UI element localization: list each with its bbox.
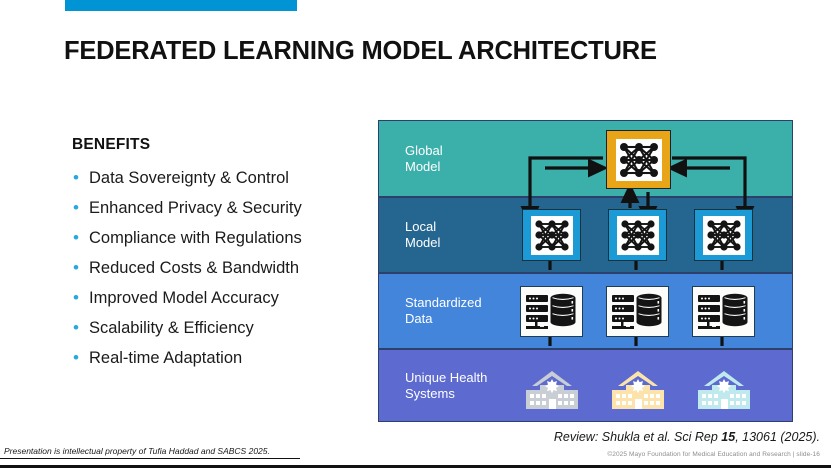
server-database-icon (611, 292, 665, 332)
band-label-local: Local Model (405, 219, 440, 251)
hospital-icon (692, 369, 756, 411)
bullet-icon: • (73, 223, 89, 253)
server-database-icon (525, 292, 579, 332)
band-label-systems: Unique Health Systems (405, 370, 487, 402)
local-model-nodes (379, 198, 792, 272)
hospital-node[interactable] (690, 367, 758, 411)
band-local-model: Local Model (378, 197, 793, 273)
list-item: • Improved Model Accuracy (72, 283, 372, 313)
band-label-data: Standardized Data (405, 295, 482, 327)
footer-note: Presentation is intellectual property of… (4, 446, 270, 456)
copyright-note: ©2025 Mayo Foundation for Medical Educat… (607, 451, 820, 458)
data-store-box[interactable] (606, 286, 669, 337)
benefit-label: Data Sovereignty & Control (89, 163, 289, 193)
neural-network-icon (617, 216, 659, 255)
architecture-diagram: Global Model (378, 120, 793, 422)
citation-suffix: , 13061 (2025). (735, 430, 820, 444)
neural-network-icon (531, 216, 573, 255)
benefits-panel: BENEFITS • Data Sovereignty & Control • … (72, 136, 372, 373)
bullet-icon: • (73, 253, 89, 283)
list-item: • Enhanced Privacy & Security (72, 193, 372, 223)
local-model-box[interactable] (522, 209, 581, 261)
band-unique-health-systems: Unique Health Systems (378, 349, 793, 422)
band-global-model: Global Model (378, 120, 793, 197)
band-standardized-data: Standardized Data (378, 273, 793, 349)
neural-network-icon (703, 216, 745, 255)
list-item: • Compliance with Regulations (72, 223, 372, 253)
hospital-node[interactable] (604, 367, 672, 411)
global-model-box[interactable] (606, 130, 671, 189)
data-store-box[interactable] (692, 286, 755, 337)
local-model-box[interactable] (608, 209, 667, 261)
hospital-icon (606, 369, 670, 411)
footer-divider (0, 458, 300, 460)
citation-volume: 15 (721, 430, 735, 444)
neural-network-icon (616, 139, 662, 181)
bullet-icon: • (73, 313, 89, 343)
bullet-icon: • (73, 283, 89, 313)
citation: Review: Shukla et al. Sci Rep 15, 13061 … (554, 430, 820, 444)
benefit-label: Scalability & Efficiency (89, 313, 254, 343)
benefit-label: Reduced Costs & Bandwidth (89, 253, 299, 283)
accent-bar (65, 0, 297, 11)
page-title: FEDERATED LEARNING MODEL ARCHITECTURE (64, 37, 657, 66)
benefits-heading: BENEFITS (72, 136, 372, 154)
bullet-icon: • (73, 193, 89, 223)
data-store-box[interactable] (520, 286, 583, 337)
bullet-icon: • (73, 163, 89, 193)
list-item: • Scalability & Efficiency (72, 313, 372, 343)
band-label-global: Global Model (405, 143, 443, 175)
list-item: • Data Sovereignty & Control (72, 163, 372, 193)
citation-prefix: Review: Shukla et al. Sci Rep (554, 430, 721, 444)
benefit-label: Compliance with Regulations (89, 223, 302, 253)
list-item: • Real-time Adaptation (72, 343, 372, 373)
benefit-label: Enhanced Privacy & Security (89, 193, 302, 223)
hospital-node[interactable] (518, 367, 586, 411)
benefit-label: Real-time Adaptation (89, 343, 242, 373)
bullet-icon: • (73, 343, 89, 373)
server-database-icon (697, 292, 751, 332)
list-item: • Reduced Costs & Bandwidth (72, 253, 372, 283)
benefit-label: Improved Model Accuracy (89, 283, 279, 313)
local-model-box[interactable] (694, 209, 753, 261)
slide-canvas: FEDERATED LEARNING MODEL ARCHITECTURE BE… (0, 0, 831, 468)
hospital-icon (520, 369, 584, 411)
